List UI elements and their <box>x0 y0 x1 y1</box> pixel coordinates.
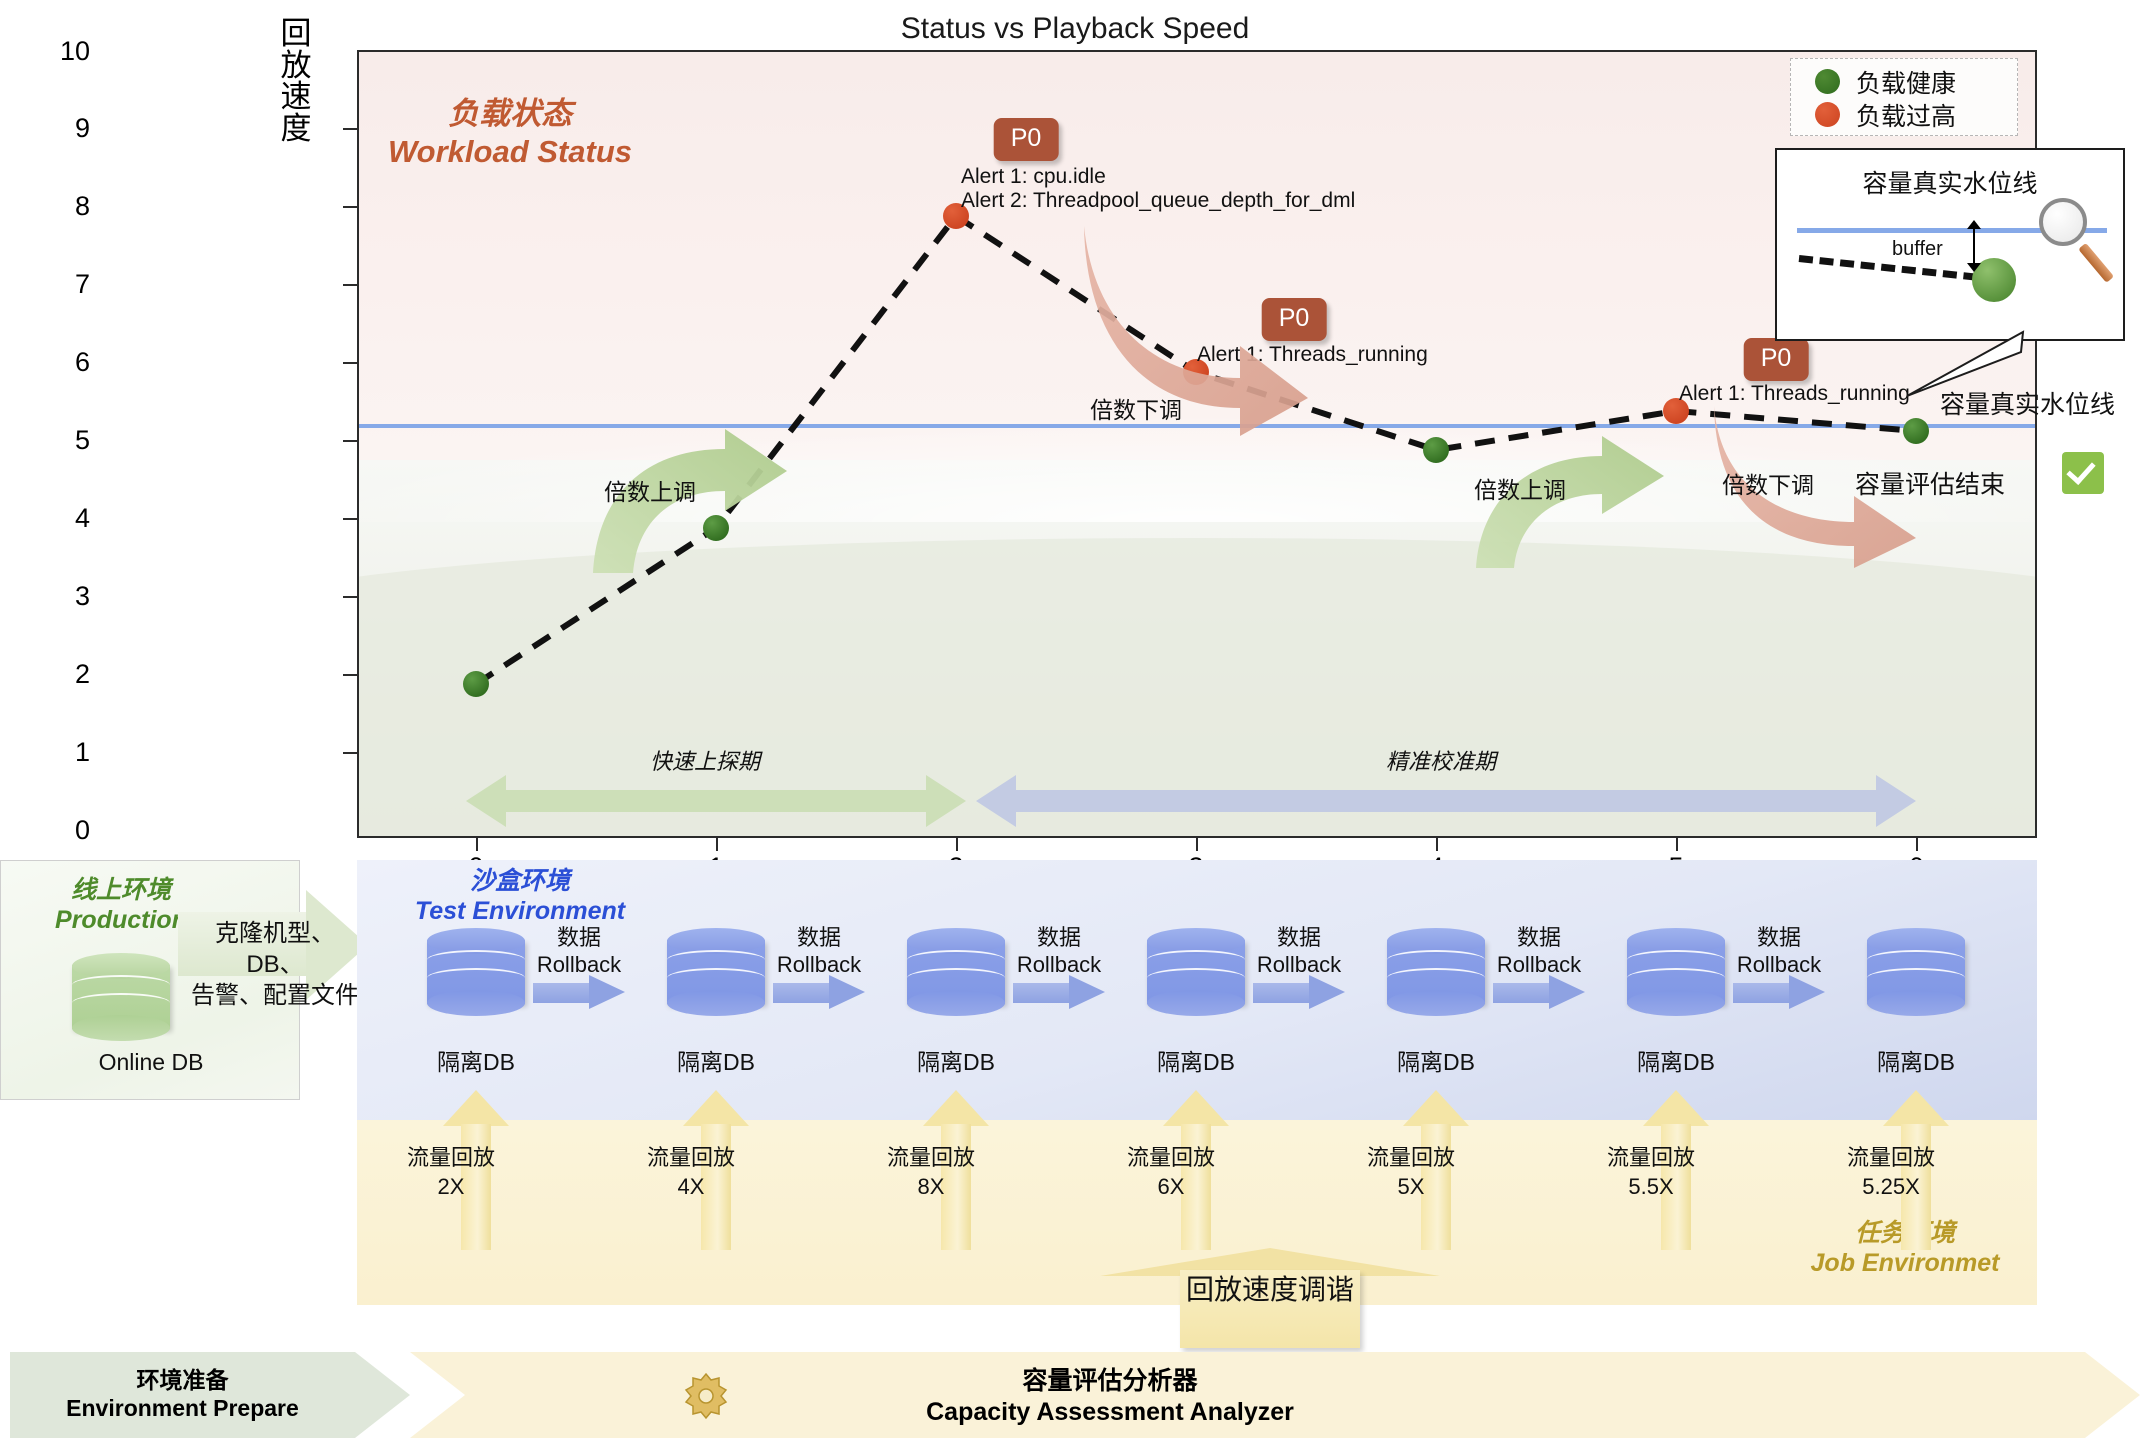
traffic-speed-2: 8X <box>918 1174 945 1199</box>
test-environment-title-en: Test Environment <box>380 896 660 926</box>
traffic-text-5: 流量回放 <box>1607 1145 1695 1170</box>
traffic-label-1: 流量回放 4X <box>616 1144 766 1201</box>
ytick-4: 4 <box>30 503 90 534</box>
legend-item-healthy: 负载健康 <box>1801 65 2007 98</box>
online-db-label: Online DB <box>1 1049 301 1076</box>
isolated-db-label-0: 隔离DB <box>406 1043 546 1077</box>
legend-label-healthy: 负载健康 <box>1856 64 1956 100</box>
stage-analyzer-text: 容量评估分析器 Capacity Assessment Analyzer <box>410 1366 1810 1427</box>
data-point-4 <box>1423 437 1449 463</box>
test-environment-title-cn: 沙盒环境 <box>380 866 660 896</box>
legend-swatch-green <box>1815 69 1840 94</box>
traffic-speed-5: 5.5X <box>1628 1174 1673 1199</box>
traffic-speed-0: 2X <box>438 1174 465 1199</box>
ytick-10: 10 <box>30 36 90 67</box>
isolated-db-6 <box>1867 928 1965 1016</box>
legend: 负载健康 负载过高 <box>1790 58 2018 136</box>
traffic-label-0: 流量回放 2X <box>376 1144 526 1201</box>
isolated-db-label-2: 隔离DB <box>886 1043 1026 1077</box>
rollback-arrow-2 <box>1013 975 1105 1009</box>
stage-environment-prepare: 环境准备 Environment Prepare <box>10 1352 410 1438</box>
traffic-label-5: 流量回放 5.5X <box>1576 1144 1726 1201</box>
traffic-speed-1: 4X <box>678 1174 705 1199</box>
ytick-0: 0 <box>30 815 90 846</box>
isolated-db-1 <box>667 928 765 1016</box>
ytick-3: 3 <box>30 581 90 612</box>
job-environment-title-en: Job Environmet <box>1790 1248 2020 1278</box>
ytick-8: 8 <box>30 191 90 222</box>
rollback-arrow-3 <box>1253 975 1345 1009</box>
magnifier-icon <box>2039 198 2087 246</box>
phase-label-calibrate: 精准校准期 <box>1386 744 1496 776</box>
data-point-0 <box>463 671 489 697</box>
legend-item-overload: 负载过高 <box>1801 98 2007 131</box>
traffic-text-1: 流量回放 <box>647 1145 735 1170</box>
playback-tuning-label: 回放速度调谐 <box>1100 1268 1440 1308</box>
callout-buffer-label: buffer <box>1892 238 1943 261</box>
p0-badge-3: P0 <box>1744 338 1809 381</box>
rollback-arrow-4 <box>1493 975 1585 1009</box>
stage-prepare-text: 环境准备 Environment Prepare <box>10 1366 355 1422</box>
stage-prepare-cn: 环境准备 <box>10 1366 355 1394</box>
rollback-label-5: 数据 Rollback <box>1719 925 1839 979</box>
bottom-stage-bar: 环境准备 Environment Prepare 容量评估分析器 Capacit… <box>10 1352 2140 1438</box>
stage-analyzer-en: Capacity Assessment Analyzer <box>410 1397 1810 1428</box>
y-axis-label: 回放速度 <box>276 18 316 144</box>
isolated-db-4 <box>1387 928 1485 1016</box>
traffic-speed-6: 5.25X <box>1862 1174 1920 1199</box>
rollback-label-0: 数据 Rollback <box>519 925 639 979</box>
traffic-text-3: 流量回放 <box>1127 1145 1215 1170</box>
traffic-label-6: 流量回放 5.25X <box>1816 1144 1966 1201</box>
ytick-1: 1 <box>30 737 90 768</box>
capacity-waterline-callout: 容量真实水位线 buffer <box>1775 148 2125 341</box>
isolated-db-2 <box>907 928 1005 1016</box>
test-environment-title: 沙盒环境 Test Environment <box>380 866 660 926</box>
traffic-text-2: 流量回放 <box>887 1145 975 1170</box>
traffic-label-4: 流量回放 5X <box>1336 1144 1486 1201</box>
isolated-db-label-6: 隔离DB <box>1846 1043 1986 1077</box>
stage-capacity-analyzer: 容量评估分析器 Capacity Assessment Analyzer <box>410 1352 2140 1438</box>
magnifier-handle-icon <box>2078 243 2114 283</box>
assessment-end-label: 容量评估结束 <box>1855 465 2005 501</box>
check-icon <box>2062 452 2104 494</box>
isolated-db-label-3: 隔离DB <box>1126 1043 1266 1077</box>
isolated-db-label-5: 隔离DB <box>1606 1043 1746 1077</box>
stage-analyzer-cn: 容量评估分析器 <box>410 1366 1810 1397</box>
multiplier-down-label-1: 倍数下调 <box>1090 391 1182 425</box>
online-db-icon <box>72 953 170 1041</box>
traffic-text-4: 流量回放 <box>1367 1145 1455 1170</box>
workload-status-label: 负载状态 Workload Status <box>330 95 690 171</box>
traffic-label-3: 流量回放 6X <box>1096 1144 1246 1201</box>
ytick-7: 7 <box>30 269 90 300</box>
ytick-2: 2 <box>30 659 90 690</box>
ytick-9: 9 <box>30 113 90 144</box>
ytick-5: 5 <box>30 425 90 456</box>
multiplier-down-label-3: 倍数下调 <box>1722 466 1814 500</box>
traffic-speed-3: 6X <box>1158 1174 1185 1199</box>
multiplier-up-label-2: 倍数上调 <box>1474 471 1566 505</box>
rollback-label-3: 数据 Rollback <box>1239 925 1359 979</box>
isolated-db-label-4: 隔离DB <box>1366 1043 1506 1077</box>
chart-title: Status vs Playback Speed <box>0 12 2150 46</box>
p0-badge-1: P0 <box>994 118 1059 161</box>
traffic-text-6: 流量回放 <box>1847 1145 1935 1170</box>
legend-label-overload: 负载过高 <box>1856 97 1956 133</box>
workload-status-en: Workload Status <box>330 133 690 171</box>
rollback-arrow-0 <box>533 975 625 1009</box>
ytick-6: 6 <box>30 347 90 378</box>
isolated-db-label-1: 隔离DB <box>646 1043 786 1077</box>
rollback-label-2: 数据 Rollback <box>999 925 1119 979</box>
multiplier-up-label-1: 倍数上调 <box>604 473 696 507</box>
rollback-label-1: 数据 Rollback <box>759 925 879 979</box>
alert-text-1a: Alert 1: cpu.idle <box>961 164 1106 191</box>
clone-label: 克隆机型、DB、 告警、配置文件 <box>190 918 360 1012</box>
callout-buffer-arrow <box>1973 228 1975 264</box>
rollback-arrow-5 <box>1733 975 1825 1009</box>
traffic-speed-4: 5X <box>1398 1174 1425 1199</box>
rollback-label-4: 数据 Rollback <box>1479 925 1599 979</box>
workload-status-cn: 负载状态 <box>330 95 690 133</box>
callout-title: 容量真实水位线 <box>1777 164 2123 200</box>
traffic-text-0: 流量回放 <box>407 1145 495 1170</box>
legend-swatch-red <box>1815 102 1840 127</box>
isolated-db-5 <box>1627 928 1725 1016</box>
isolated-db-3 <box>1147 928 1245 1016</box>
waterline-pointer-label: 容量真实水位线 <box>1940 385 2115 421</box>
phase-arrow-calibrate <box>976 772 1916 830</box>
traffic-label-2: 流量回放 8X <box>856 1144 1006 1201</box>
rollback-arrow-1 <box>773 975 865 1009</box>
isolated-db-0 <box>427 928 525 1016</box>
stage-prepare-en: Environment Prepare <box>10 1394 355 1422</box>
alert-text-1b: Alert 2: Threadpool_queue_depth_for_dml <box>961 188 1355 215</box>
phase-label-explore: 快速上探期 <box>650 744 760 776</box>
phase-arrow-explore <box>466 772 966 830</box>
